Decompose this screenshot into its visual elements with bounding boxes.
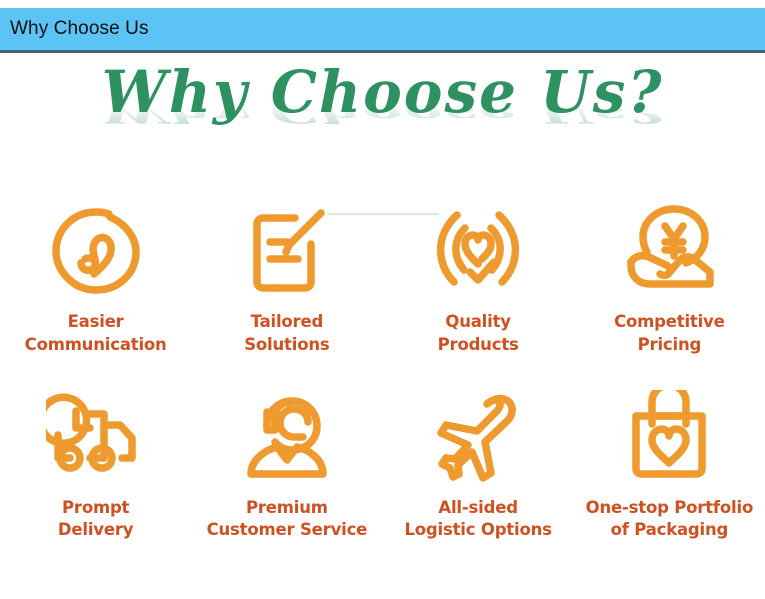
window-title-text: Why Choose Us <box>10 18 149 40</box>
feature-label-line-1: All-sided <box>404 497 551 520</box>
ear-in-circle-icon <box>50 195 142 305</box>
feature-easier-communication[interactable]: Easier Communication <box>0 195 191 357</box>
truck-clock-icon <box>46 381 146 491</box>
feature-label-line-1: Quality <box>438 311 519 334</box>
feature-row-2: Prompt Delivery Premium Customer Service <box>0 381 765 543</box>
airplane-icon <box>432 381 524 491</box>
document-pencil-icon <box>241 195 333 305</box>
shopping-bag-heart-icon <box>623 381 715 491</box>
feature-label: One-stop Portfolio of Packaging <box>586 497 753 543</box>
feature-grid: Easier Communication Tailored Solutions <box>0 195 765 542</box>
feature-label-line-2: Delivery <box>58 519 133 542</box>
page-title: Why Choose Us? <box>0 63 765 121</box>
feature-label: Easier Communication <box>25 311 167 357</box>
feature-label-line-1: Prompt <box>58 497 133 520</box>
headset-agent-icon <box>239 381 335 491</box>
feature-label-line-2: Products <box>438 334 519 357</box>
feature-tailored-solutions[interactable]: Tailored Solutions <box>191 195 382 357</box>
feature-label-line-2: of Packaging <box>586 519 753 542</box>
feature-all-sided-logistic-options[interactable]: All-sided Logistic Options <box>383 381 574 543</box>
feature-premium-customer-service[interactable]: Premium Customer Service <box>191 381 382 543</box>
feature-label: Tailored Solutions <box>244 311 329 357</box>
feature-label: Prompt Delivery <box>58 497 133 543</box>
headline-area: Why Choose Us? Why Choose Us? <box>0 53 765 158</box>
top-margin <box>0 0 765 8</box>
heart-check-signal-icon <box>432 195 524 305</box>
feature-label-line-2: Pricing <box>614 334 724 357</box>
feature-label-line-2: Logistic Options <box>404 519 551 542</box>
feature-label: All-sided Logistic Options <box>404 497 551 543</box>
feature-label-line-1: Premium <box>207 497 368 520</box>
feature-label-line-1: One-stop Portfolio <box>586 497 753 520</box>
hand-holding-yen-coin-icon <box>622 195 716 305</box>
feature-label-line-2: Communication <box>25 334 167 357</box>
feature-label: Competitive Pricing <box>614 311 724 357</box>
feature-label: Premium Customer Service <box>207 497 368 543</box>
feature-label-line-2: Customer Service <box>207 519 368 542</box>
window-title-bar: Why Choose Us <box>0 8 765 53</box>
feature-competitive-pricing[interactable]: Competitive Pricing <box>574 195 765 357</box>
feature-prompt-delivery[interactable]: Prompt Delivery <box>0 381 191 543</box>
feature-label-line-1: Tailored <box>244 311 329 334</box>
feature-row-1: Easier Communication Tailored Solutions <box>0 195 765 357</box>
feature-quality-products[interactable]: Quality Products <box>383 195 574 357</box>
feature-one-stop-portfolio-of-packaging[interactable]: One-stop Portfolio of Packaging <box>574 381 765 543</box>
feature-label-line-1: Easier <box>25 311 167 334</box>
feature-label-line-2: Solutions <box>244 334 329 357</box>
feature-label-line-1: Competitive <box>614 311 724 334</box>
feature-label: Quality Products <box>438 311 519 357</box>
